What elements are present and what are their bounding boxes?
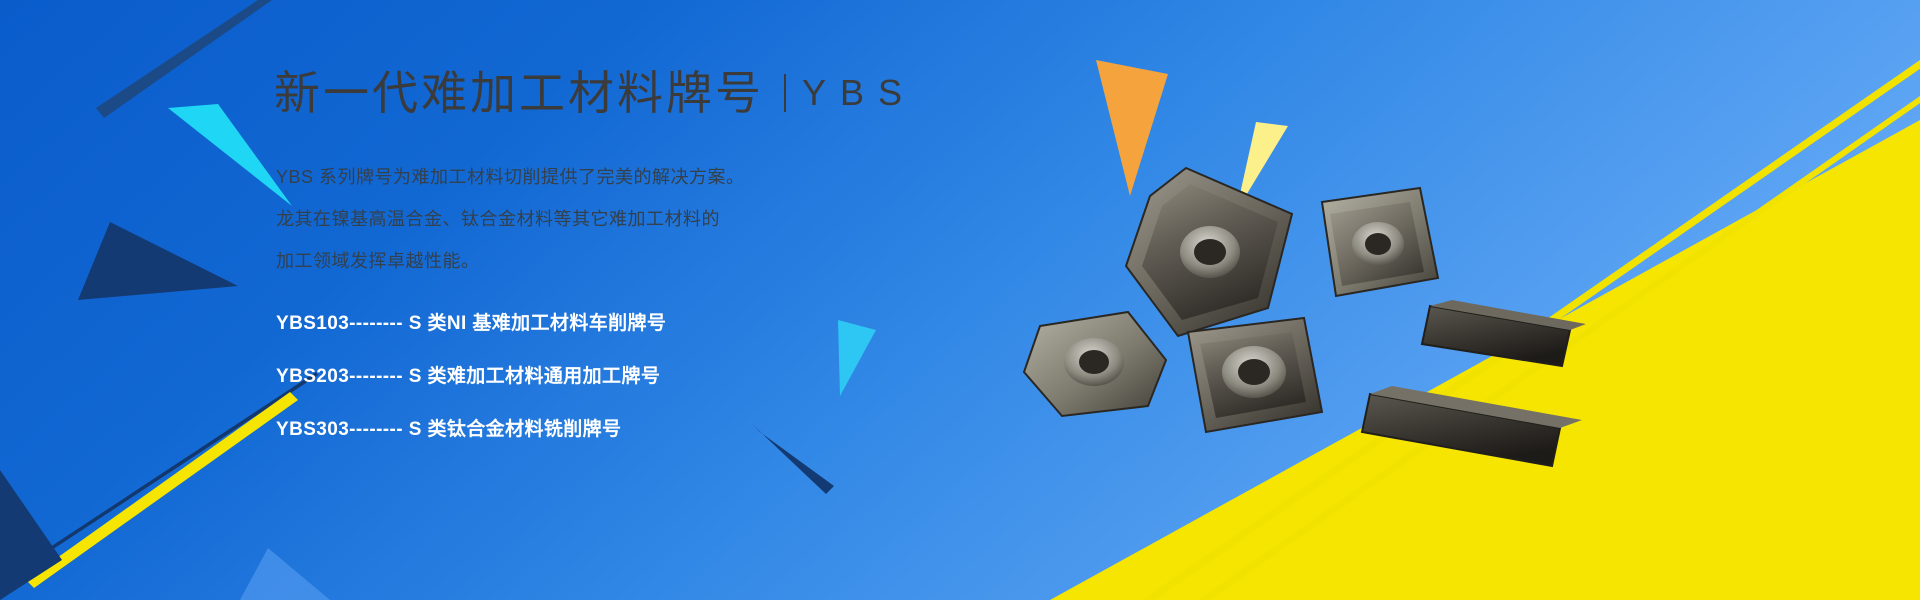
wnmg-trigon-insert xyxy=(1126,168,1292,336)
description-line-1: YBS 系列牌号为难加工材料切削提供了完美的解决方案。 xyxy=(276,164,745,192)
banner-text-content: 新一代难加工材料牌号 YBS YBS 系列牌号为难加工材料切削提供了完美的解决方… xyxy=(0,0,1000,600)
grade-desc: S 类难加工材料通用加工牌号 xyxy=(409,366,661,387)
grade-dashes: -------- xyxy=(349,366,403,387)
grooving-bar-insert-lower xyxy=(1362,386,1582,466)
grade-code: YBS303 xyxy=(276,419,349,440)
page-title-en: YBS xyxy=(802,75,916,111)
product-insert-group xyxy=(1000,140,1620,490)
round-button-insert xyxy=(1024,312,1166,416)
banner-title: 新一代难加工材料牌号 YBS xyxy=(274,70,916,116)
grade-code: YBS103 xyxy=(276,313,349,334)
grade-list-item: YBS103-------- S 类NI 基难加工材料车削牌号 xyxy=(276,308,666,335)
description-line-2: 龙其在镍基高温合金、钛合金材料等其它难加工材料的 xyxy=(276,206,745,234)
grade-dashes: -------- xyxy=(349,419,403,440)
ybs-promo-banner: 新一代难加工材料牌号 YBS YBS 系列牌号为难加工材料切削提供了完美的解决方… xyxy=(0,0,1920,600)
grade-list-item: YBS303-------- S 类钛合金材料铣削牌号 xyxy=(276,414,666,441)
grade-list-item: YBS203-------- S 类难加工材料通用加工牌号 xyxy=(276,361,666,388)
grade-desc: S 类NI 基难加工材料车削牌号 xyxy=(409,313,667,334)
page-title-cn: 新一代难加工材料牌号 xyxy=(274,70,764,116)
cnmg-square-insert xyxy=(1322,188,1438,296)
grade-list: YBS103-------- S 类NI 基难加工材料车削牌号 YBS203--… xyxy=(276,308,666,467)
carbide-inserts-illustration xyxy=(1000,140,1620,490)
grade-desc: S 类钛合金材料铣削牌号 xyxy=(409,419,622,440)
title-divider xyxy=(784,74,786,112)
grooving-bar-insert-upper xyxy=(1422,300,1586,366)
square-milling-insert xyxy=(1188,318,1322,432)
description-line-3: 加工领域发挥卓越性能。 xyxy=(276,248,745,276)
grade-code: YBS203 xyxy=(276,366,349,387)
banner-description: YBS 系列牌号为难加工材料切削提供了完美的解决方案。 龙其在镍基高温合金、钛合… xyxy=(276,164,745,290)
grade-dashes: -------- xyxy=(349,313,403,334)
